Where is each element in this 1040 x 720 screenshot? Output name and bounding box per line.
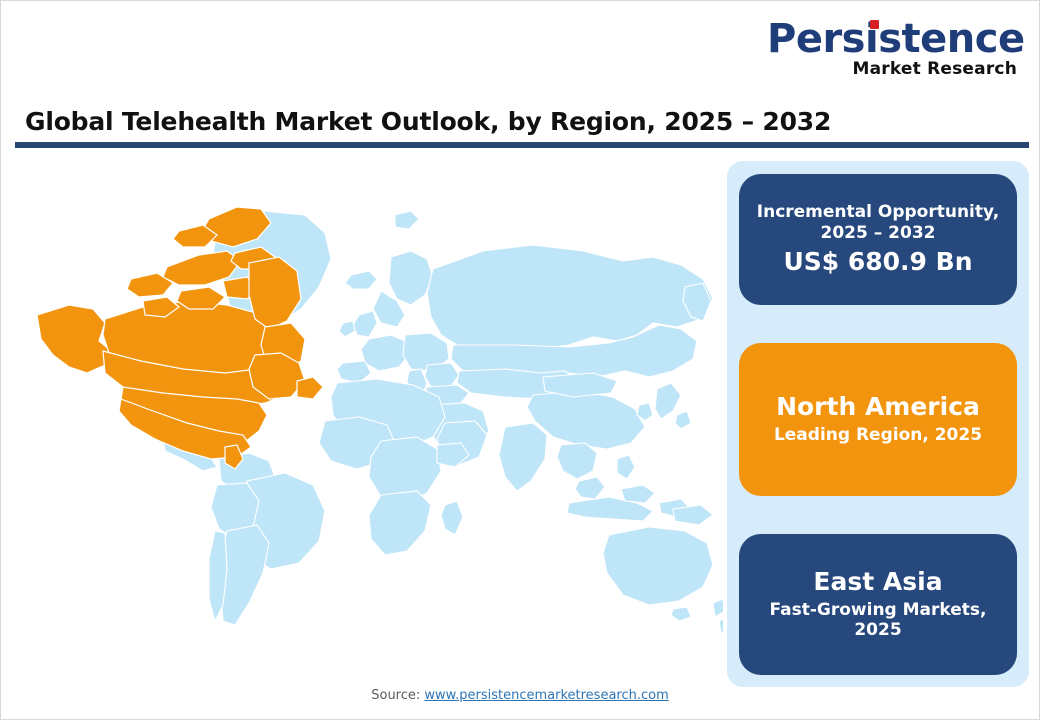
brand-logo-name: Persistence [767, 19, 1017, 59]
card-incremental-opportunity: Incremental Opportunity, 2025 – 2032 US$… [739, 174, 1017, 305]
source-line: Source: www.persistencemarketresearch.co… [1, 688, 1039, 703]
brand-logo-accent-dot-icon [870, 20, 879, 29]
card-leading-region: North America Leading Region, 2025 [739, 343, 1017, 496]
title-divider [15, 142, 1029, 148]
card-leading-region-headline: North America [776, 393, 980, 422]
brand-logo: Persistence Market Research [767, 19, 1017, 78]
world-map [13, 159, 723, 669]
infographic-page: Persistence Market Research Global Teleh… [0, 0, 1040, 720]
card-fast-growing-market-caption: Fast-Growing Markets, 2025 [753, 600, 1003, 641]
card-incremental-opportunity-value: US$ 680.9 Bn [783, 247, 972, 277]
card-fast-growing-market: East Asia Fast-Growing Markets, 2025 [739, 534, 1017, 675]
page-title: Global Telehealth Market Outlook, by Reg… [25, 107, 831, 136]
card-fast-growing-market-headline: East Asia [813, 568, 942, 597]
card-leading-region-caption: Leading Region, 2025 [774, 425, 982, 446]
source-link[interactable]: www.persistencemarketresearch.com [424, 688, 668, 703]
source-label: Source: [371, 688, 424, 703]
highlight-panel: Incremental Opportunity, 2025 – 2032 US$… [727, 161, 1029, 687]
brand-logo-tagline: Market Research [767, 61, 1017, 78]
card-incremental-opportunity-kicker: Incremental Opportunity, 2025 – 2032 [753, 202, 1003, 243]
